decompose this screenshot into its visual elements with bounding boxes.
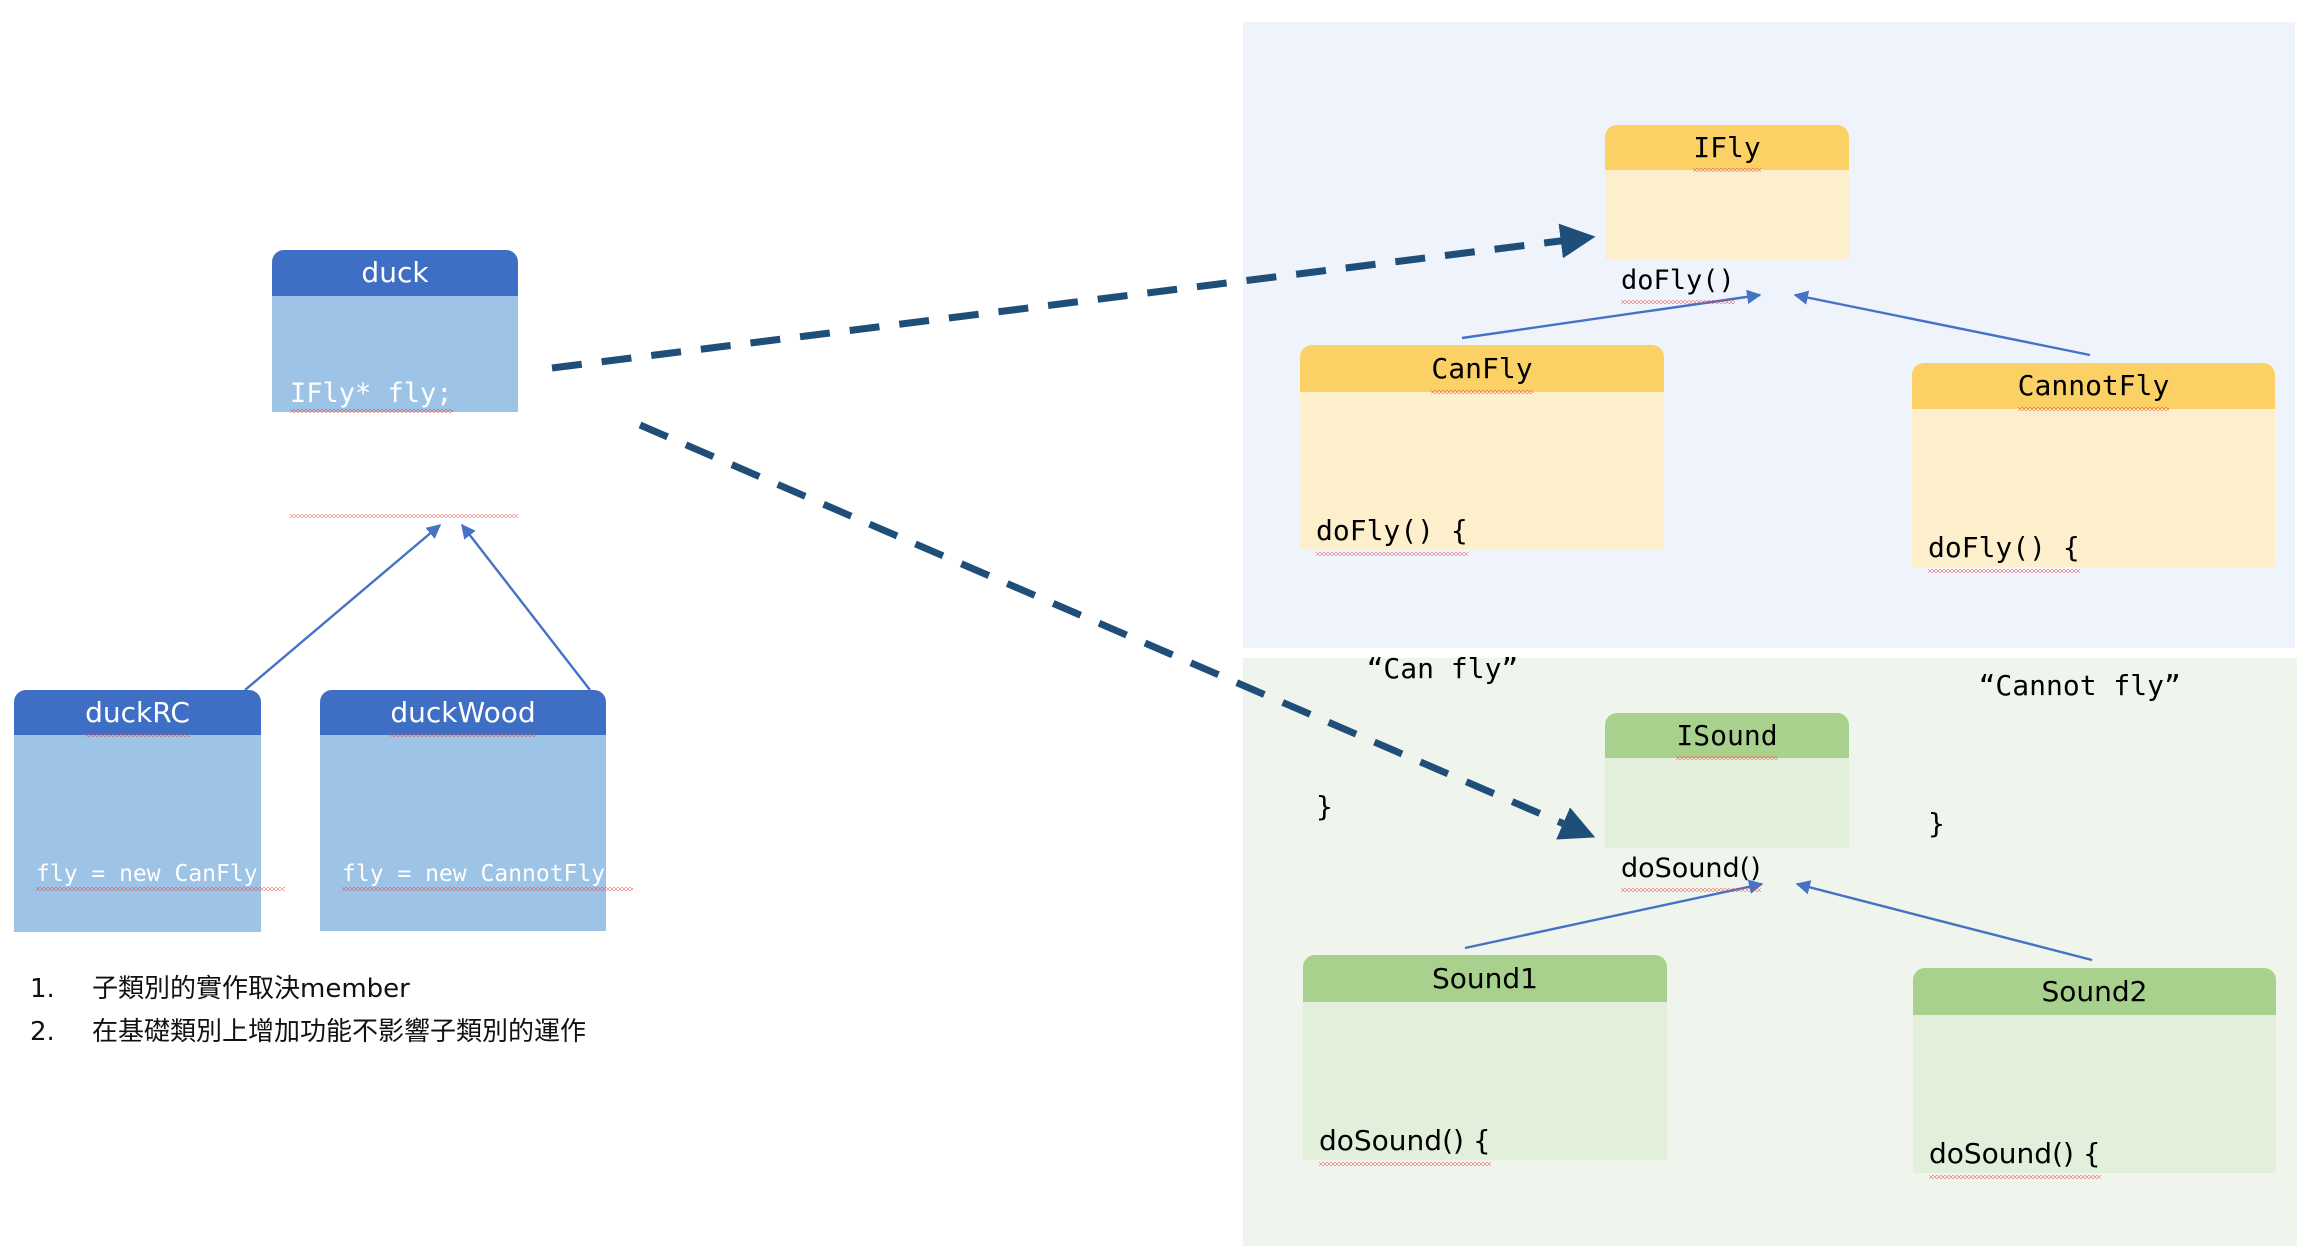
class-box-canfly[interactable]: CanFly doFly() { “Can fly” }: [1300, 345, 1664, 549]
method-body-string: “Can fly”: [1316, 652, 1518, 685]
method-line: “Cannot fly”: [1928, 663, 2275, 709]
class-box-duck[interactable]: duck IFly* fly; Isound* sound; …: [272, 250, 518, 412]
method-dofly-open: doFly() {: [1316, 508, 1468, 554]
method-dofly: doFly(): [1621, 260, 1735, 302]
class-title-ifly: IFly: [1605, 125, 1849, 170]
diagram-canvas: IFly (dependency, dashed) --> ISound (de…: [0, 0, 2318, 1258]
list-item-text: 在基礎類別上增加功能不影響子類別的運作: [92, 1011, 586, 1048]
class-box-duckwood[interactable]: duckWood fly = new CannotFly(): [320, 690, 606, 931]
method-line: doFly(): [1621, 260, 1849, 302]
class-box-duckrc[interactable]: duckRC fly = new CanFly(): [14, 690, 261, 932]
class-title-sound1: Sound1: [1303, 955, 1667, 1002]
class-title-duckwood: duckWood: [320, 690, 606, 735]
class-box-sound2[interactable]: Sound2 doSound() { “Sound2” }: [1913, 968, 2276, 1173]
class-body-isound: doSound() …: [1605, 758, 1849, 848]
method-line: }: [1928, 801, 2275, 847]
method-dosound-open: doSound() {: [1319, 1118, 1491, 1164]
class-title-canfly: CanFly: [1300, 345, 1664, 392]
class-title-duckrc: duckRC: [14, 690, 261, 735]
class-body-duckwood: fly = new CannotFly(): [320, 735, 606, 931]
member-line: IFly* fly;: [290, 376, 518, 411]
method-line: “Can fly”: [1316, 646, 1664, 692]
method-line: doSound(): [1621, 848, 1849, 890]
method-line: doSound() {: [1929, 1131, 2276, 1177]
member-line: fly = new CanFly(): [36, 859, 261, 889]
method-line: doSound() {: [1319, 1118, 1667, 1164]
class-body-ifly: doFly() …: [1605, 170, 1849, 260]
member-fly-assign: fly = new CanFly(): [36, 859, 285, 889]
method-dosound-open: doSound() {: [1929, 1131, 2101, 1177]
class-body-duckrc: fly = new CanFly(): [14, 735, 261, 932]
class-body-duck: IFly* fly; Isound* sound; …: [272, 296, 518, 412]
list-item: 1. 子類別的實作取決member: [30, 968, 586, 1005]
method-line: doFly() {: [1316, 508, 1664, 554]
member-line: fly = new CannotFly(): [342, 859, 606, 889]
member-fly-assign: fly = new CannotFly(): [342, 859, 633, 889]
class-title-duck: duck: [272, 250, 518, 296]
class-body-sound2: doSound() { “Sound2” }: [1913, 1015, 2276, 1173]
class-box-sound1[interactable]: Sound1 doSound() { “Sound1” }: [1303, 955, 1667, 1160]
class-title-isound: ISound: [1605, 713, 1849, 758]
class-box-ifly[interactable]: IFly doFly() …: [1605, 125, 1849, 260]
list-item-number: 1.: [30, 974, 92, 1004]
method-dosound: doSound(): [1621, 848, 1761, 890]
member-ellipsis: …: [290, 586, 518, 621]
method-close-brace: }: [1316, 790, 1333, 823]
class-body-sound1: doSound() { “Sound1” }: [1303, 1002, 1667, 1160]
class-title-cannotfly: CannotFly: [1912, 363, 2275, 409]
list-item-number: 2.: [30, 1017, 92, 1047]
list-item-text: 子類別的實作取決member: [92, 968, 410, 1005]
method-close-brace: }: [1928, 807, 1945, 840]
class-title-sound2: Sound2: [1913, 968, 2276, 1015]
class-box-cannotfly[interactable]: CannotFly doFly() { “Cannot fly” }: [1912, 363, 2275, 567]
class-body-cannotfly: doFly() { “Cannot fly” }: [1912, 409, 2275, 567]
member-isound-sound: Isound* sound;: [290, 481, 518, 516]
list-item: 2. 在基礎類別上增加功能不影響子類別的運作: [30, 1011, 586, 1048]
member-ifly-fly: IFly* fly;: [290, 376, 453, 411]
class-box-isound[interactable]: ISound doSound() …: [1605, 713, 1849, 848]
method-body-string: “Cannot fly”: [1928, 669, 2181, 702]
method-dofly-open: doFly() {: [1928, 525, 2080, 571]
member-line: Isound* sound;: [290, 481, 518, 516]
method-line: doFly() {: [1928, 525, 2275, 571]
notes-list: 1. 子類別的實作取決member 2. 在基礎類別上增加功能不影響子類別的運作: [30, 968, 586, 1054]
class-body-canfly: doFly() { “Can fly” }: [1300, 392, 1664, 549]
